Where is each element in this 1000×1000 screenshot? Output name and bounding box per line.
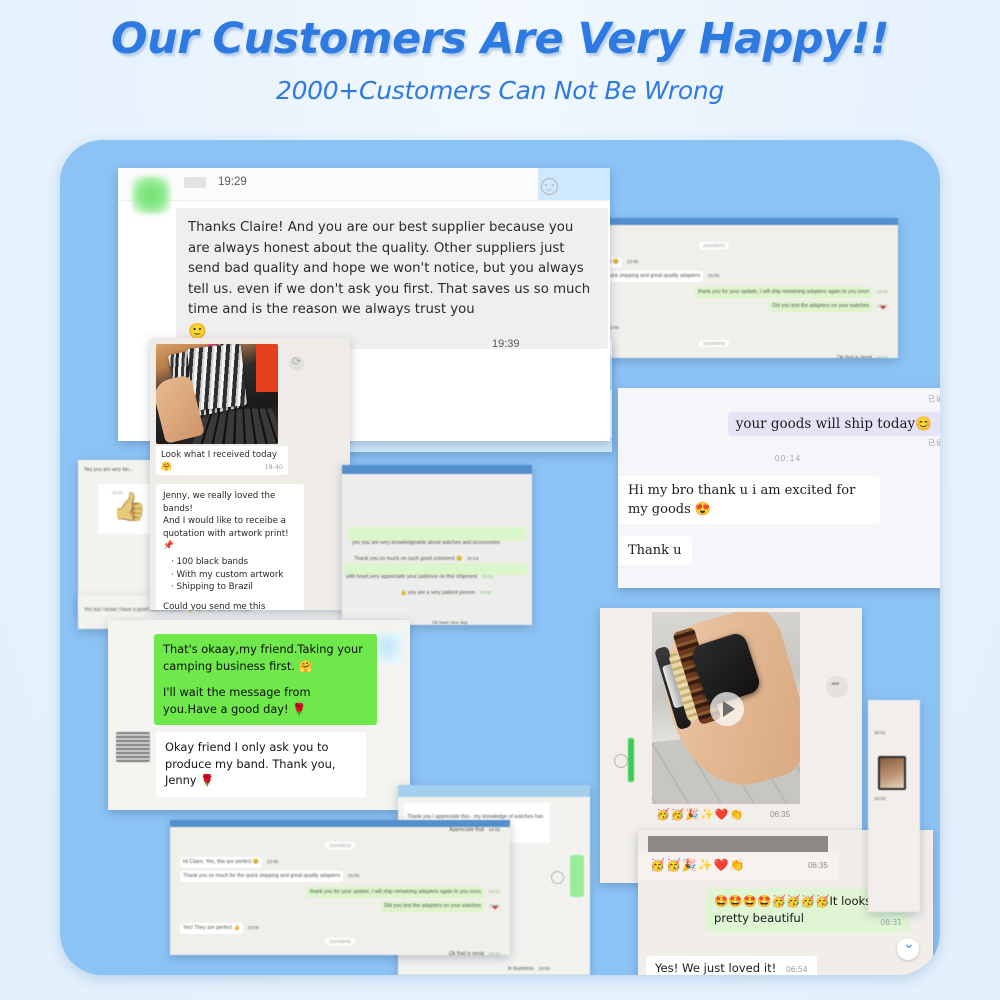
video-time: 06:35 [770, 810, 790, 819]
chat-bubble: Did you test the adapters on your watche… [769, 301, 872, 312]
chat-time: 13:05 [708, 273, 720, 278]
contact-name-redacted [184, 177, 206, 188]
beauty-line-2: pretty beautiful [714, 910, 902, 927]
header: Our Customers Are Very Happy!! 2000+Cust… [0, 14, 1000, 105]
reaction-row: 🥳🥳🎉✨❤️👏 06:35 [638, 852, 838, 880]
center-timestamp: 00:14 [775, 453, 801, 463]
play-button-icon[interactable] [710, 692, 744, 726]
quote-bullets: 100 black bands With my custom artwork S… [163, 556, 297, 594]
voice-note-bar [570, 855, 584, 897]
voice-note[interactable] [614, 738, 652, 786]
green-chat-bubble: That's okaay,my friend.Taking your campi… [154, 634, 377, 725]
page-subtitle: 2000+Customers Can Not Be Wrong [0, 76, 1000, 105]
reply-line-2: produce my band. Thank you, [165, 756, 357, 773]
sticker-bubble: 👍 20:03 [98, 484, 156, 534]
chat-bubble: Appreciate that [449, 827, 484, 833]
white-chat-bubble: Okay friend I only ask you to produce my… [156, 732, 366, 797]
testimonial-text: Thanks Claire! And you are our best supp… [188, 220, 590, 317]
quote-bullet: 100 black bands [171, 556, 297, 569]
date-stamp: 2024/05/22 [699, 242, 729, 249]
chat-time: 20:04 [467, 556, 479, 561]
chat-bubble: Ok that is great [449, 951, 484, 955]
chat-text: Yes you are very kin... [84, 467, 133, 473]
emoji-reactions: 🥳🥳🎉✨❤️👏 [650, 858, 746, 872]
card-wechat-watches[interactable]: yes you are very knowledgeable about wat… [342, 465, 532, 625]
quote-line-1: Jenny, we really loved the bands! [163, 490, 297, 515]
photo-caption: Look what I received today 🤗 18:40 [156, 446, 288, 475]
message-time: 19:29 [218, 176, 247, 188]
card-right-edge-partial[interactable]: 18:31 18:32 [868, 700, 920, 912]
date-stamp: 2024/05/22 [325, 842, 355, 849]
quote-bullet: With my custom artwork [171, 569, 297, 582]
heart-reaction-icon: ❤ [880, 304, 886, 312]
forward-arrow-icon[interactable] [826, 676, 848, 698]
page-title: Our Customers Are Very Happy!! [0, 14, 1000, 64]
bubble-time: 08:31 [880, 914, 902, 931]
chat-time: 18:42 [877, 355, 889, 358]
chat-time: 13:06 [247, 925, 259, 930]
chat-bubble: 👍 you are a very patient person [400, 590, 475, 596]
photo-thumbnail[interactable] [878, 756, 906, 790]
heart-reaction-icon: ❤ [492, 904, 498, 912]
chat-bubble: with heart,very appreciate your patience… [346, 574, 477, 580]
emoji-reactions: 🥳🥳🎉✨❤️👏 [656, 808, 744, 821]
date-stamp: 2024/08/05 [699, 340, 729, 347]
reply-line-3: Jenny 🌹 [165, 772, 357, 789]
quotation-bubble: Jenny, we really loved the bands! And I … [156, 484, 304, 610]
white-chat-bubble: Yes! We just loved it! 06:54 [646, 956, 817, 975]
quote-closing-1: Could you send me this quote? [163, 601, 297, 610]
card-goods-shipping[interactable]: 已读 your goods will ship today😊 已读 00:14 … [618, 388, 940, 588]
card-camping-business[interactable]: That's okaay,my friend.Taking your campi… [108, 620, 410, 810]
chat-time: 18:56 [538, 966, 550, 971]
card-duplicate-adapters[interactable]: Appreciate that 18:55 2024/05/22 Hi Clai… [170, 820, 510, 955]
camp-line-4: you.Have a good day! 🌹 [163, 701, 368, 718]
camp-line-1: That's okaay,my friend.Taking your [163, 641, 368, 658]
bubble-time: 06:54 [786, 965, 808, 974]
card-bands-quotation[interactable]: Look what I received today 🤗 18:40 Jenny… [150, 338, 350, 610]
read-receipt: 已读 [928, 438, 940, 448]
chat-time: 13:05 [348, 873, 360, 878]
chat-time: 18:31 [874, 730, 886, 735]
testimonial-collage-panel: 2024/05/22 Hi Claire, Yes, this are perf… [60, 140, 940, 975]
chat-footer: Ok have nice day [432, 620, 468, 625]
chat-bubble: in business [508, 966, 534, 972]
scroll-down-icon[interactable] [897, 938, 919, 960]
chat-bubble: Yes! They are perfect 👍 [180, 923, 243, 934]
reply-bubble: Hi my bro thank u i am excited for my go… [618, 476, 880, 524]
ship-today-bubble: your goods will ship today😊 [728, 412, 940, 436]
quote-bullet: Shipping to Brazil [171, 581, 297, 594]
chat-time: 18:42 [489, 951, 501, 955]
received-bands-photo [156, 344, 278, 444]
play-icon[interactable] [551, 871, 564, 884]
caption-text: Look what I received today [161, 450, 283, 460]
video-strip [648, 836, 828, 852]
chat-time: 20:05 [482, 574, 494, 579]
testimonial-message: Thanks Claire! And you are our best supp… [176, 208, 608, 349]
reply-line-1: Okay friend I only ask you to [165, 739, 357, 756]
timestamp-1939: 19:39 [492, 338, 520, 350]
loved-it-text: Yes! We just loved it! [655, 961, 776, 975]
sticker-time: 20:03 [112, 490, 152, 532]
date-stamp: 2024/08/05 [325, 938, 355, 945]
chat-bubble: Thank you so much on such good comment 😊 [354, 556, 463, 562]
camp-line-3: I'll wait the message from [163, 684, 368, 701]
hug-emoji: 🤗 [161, 462, 172, 472]
quote-line-3: quotation with artwork print! 📌 [163, 528, 297, 553]
chat-bubble: Ok that is great [837, 355, 872, 358]
card-header-bar [398, 785, 590, 797]
avatar [116, 732, 150, 762]
reply-bubble: Thank u [618, 536, 692, 565]
chat-bubble: Did you test the adapters on your watche… [381, 901, 484, 912]
refresh-icon[interactable] [289, 356, 304, 371]
read-receipt: 已读 [928, 394, 940, 404]
chat-bubble: yes you are very knowledgeable about wat… [352, 540, 500, 546]
photo-time: 18:40 [265, 463, 283, 471]
card-header-bar [342, 465, 532, 474]
quote-line-2: And I would like to receibe a [163, 515, 297, 528]
smiley-face-icon [541, 178, 558, 195]
camp-line-2: camping business first. 🤗 [163, 658, 368, 675]
reaction-time: 06:35 [808, 861, 828, 870]
chat-time: 18:55 [489, 827, 501, 832]
chat-time: 20:05 [480, 590, 492, 595]
chat-time: 18:32 [874, 796, 886, 801]
avatar [132, 176, 170, 214]
